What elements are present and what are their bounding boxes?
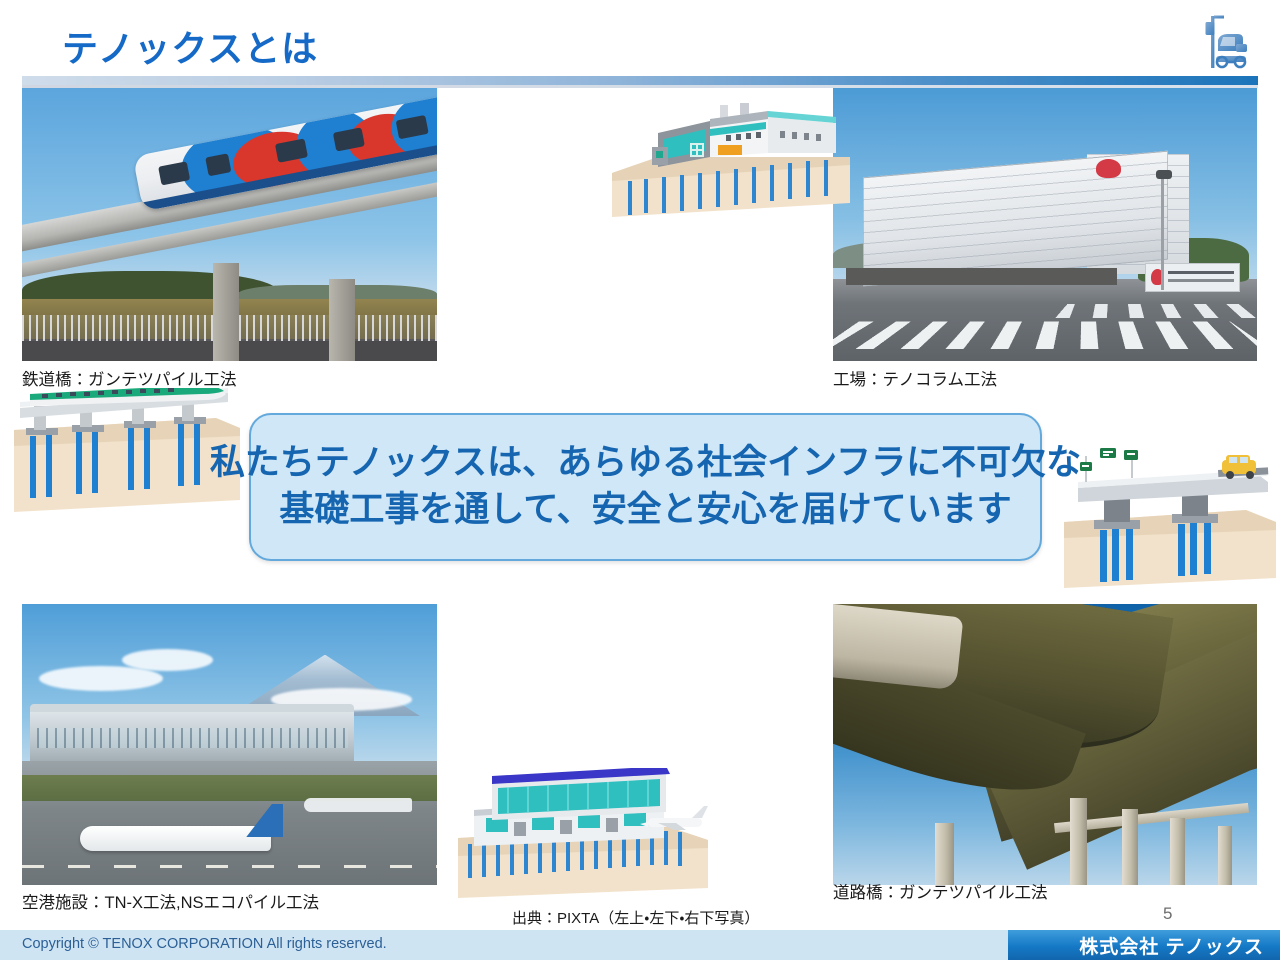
airport-caption: 空港施設：TN-X工法,NSエコパイル工法: [22, 889, 319, 913]
source-note: 出典：PIXTA（左上・左下・右下写真）: [512, 907, 759, 928]
road-bridge-pile-illustration: [1060, 438, 1276, 590]
highway-caption: 道路橋：ガンテツパイル工法: [833, 879, 1048, 903]
header-divider: [22, 76, 1258, 85]
page-number: 5: [1163, 904, 1172, 924]
highway-photo: [833, 604, 1257, 885]
page-title: テノックスとは: [62, 20, 318, 72]
message-line-1: 私たちテノックスは、あらゆる社会インフラに不可欠な: [210, 442, 1081, 485]
footer-bar: Copyright © TENOX CORPORATION All rights…: [0, 930, 1280, 960]
railway-bridge-caption: 鉄道橋：ガンテツパイル工法: [22, 366, 237, 390]
factory-pile-illustration: [600, 95, 850, 217]
pile-driver-icon: [1178, 10, 1252, 80]
railway-bridge-pile-illustration: [8, 388, 240, 518]
company-logo: 株式会社 テノックス: [1008, 930, 1280, 960]
railway-bridge-photo: [22, 88, 437, 361]
factory-caption: 工場：テノコラム工法: [833, 366, 997, 390]
airport-photo: [22, 604, 437, 885]
company-logo-text: 株式会社 テノックス: [1079, 932, 1264, 959]
key-message-box: 私たちテノックスは、あらゆる社会インフラに不可欠な 基礎工事を通して、安全と安心…: [249, 413, 1042, 561]
message-line-2: 基礎工事を通して、安全と安心を届けています: [279, 489, 1011, 532]
factory-photo: [833, 88, 1257, 361]
airport-terminal-pile-illustration: [452, 768, 708, 900]
footer-copyright: Copyright © TENOX CORPORATION All rights…: [22, 936, 387, 952]
